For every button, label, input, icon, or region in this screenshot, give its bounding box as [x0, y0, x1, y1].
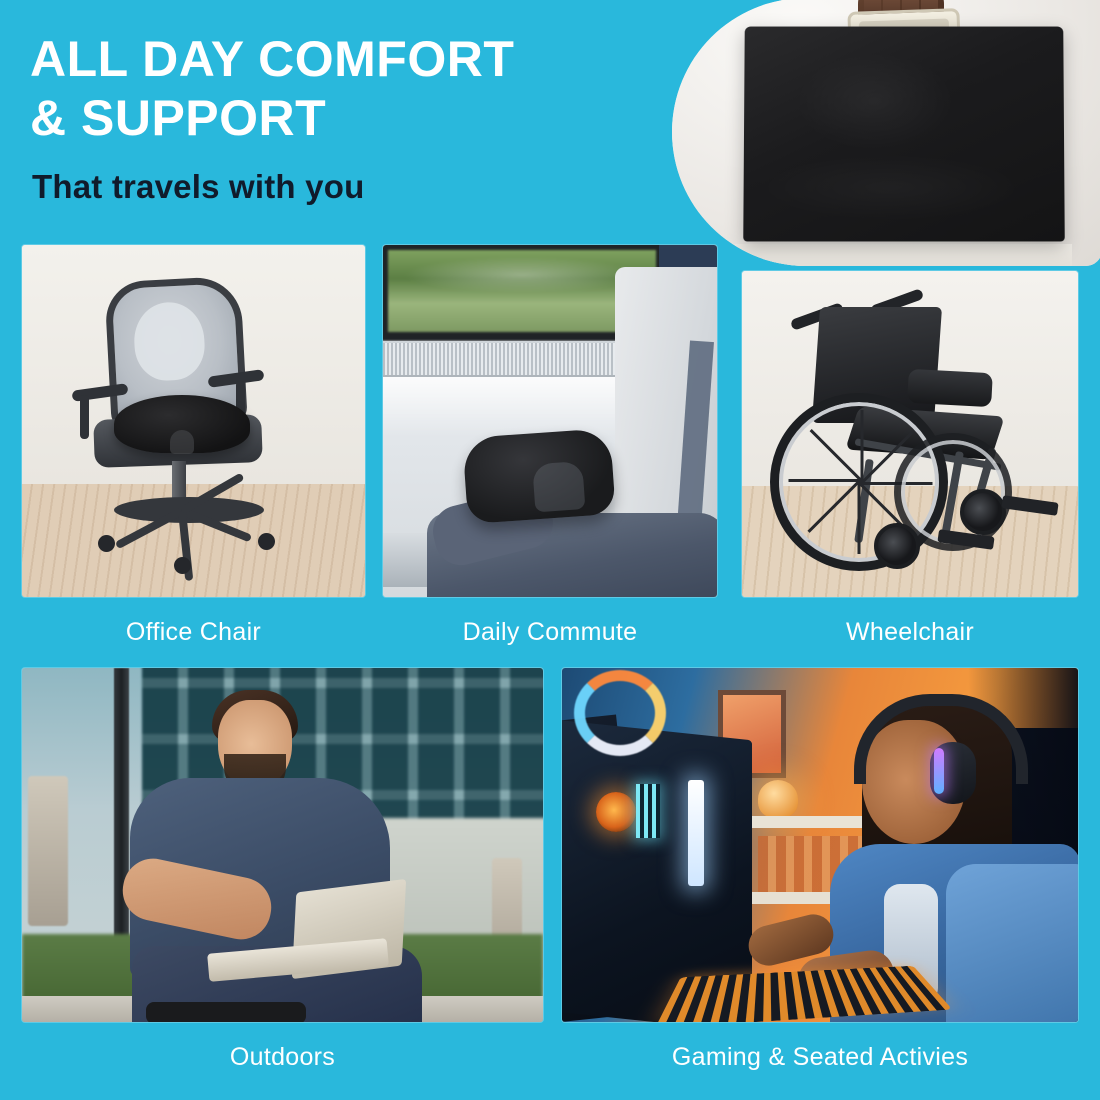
outdoors-scene	[22, 668, 543, 1022]
hero-table-surface	[732, 244, 1072, 266]
chair-caster	[174, 557, 191, 574]
panel-wheelchair	[742, 271, 1078, 597]
seat-cushion-product	[462, 428, 616, 524]
pc-case-fan	[596, 792, 636, 832]
train-air-vent	[383, 341, 629, 377]
headset-rgb-light	[934, 748, 944, 794]
poster-canvas: ALL DAY COMFORT & SUPPORT That travels w…	[0, 0, 1100, 1100]
panel-gaming	[562, 668, 1078, 1022]
chair-caster	[98, 535, 115, 552]
caption-wheelchair: Wheelchair	[742, 618, 1078, 647]
lamp-post	[114, 668, 129, 958]
stone-post	[28, 776, 68, 926]
wheelchair-armrest	[907, 369, 993, 407]
wall-highlight	[383, 377, 623, 437]
black-cushion-carry-bag	[743, 27, 1065, 242]
shelf	[742, 816, 882, 828]
seat-cushion-product	[146, 1002, 306, 1022]
hero-carry-cushion-image	[672, 0, 1100, 266]
panel-daily-commute	[383, 245, 717, 597]
caption-daily-commute: Daily Commute	[383, 618, 717, 647]
rgb-light-bar	[688, 780, 704, 886]
caption-gaming: Gaming & Seated Activies	[562, 1043, 1078, 1072]
headline-block: ALL DAY COMFORT & SUPPORT	[30, 30, 670, 147]
headline-line-2: & SUPPORT	[30, 89, 670, 148]
seat-cushion-product	[114, 395, 250, 453]
wheelchair-caster-wheel	[960, 489, 1006, 535]
wheelchair-caster-wheel	[874, 523, 920, 569]
panel-outdoors	[22, 668, 543, 1022]
office-chair-scene	[22, 245, 365, 597]
wheelchair-scene	[742, 271, 1078, 597]
gaming-room-scene	[562, 668, 1078, 1022]
pc-ram-modules	[636, 784, 660, 838]
desk-lamp	[758, 780, 798, 818]
caption-outdoors: Outdoors	[22, 1043, 543, 1072]
chair-caster	[258, 533, 275, 550]
rgb-ring-light	[574, 670, 666, 756]
caption-office-chair: Office Chair	[22, 618, 365, 647]
headline-line-1: ALL DAY COMFORT	[30, 30, 670, 89]
denim-jacket-sleeve	[946, 864, 1078, 1022]
subtitle: That travels with you	[32, 168, 364, 206]
train-interior-scene	[383, 245, 717, 597]
chair-armpost-left	[80, 395, 89, 439]
panel-office-chair	[22, 245, 365, 597]
